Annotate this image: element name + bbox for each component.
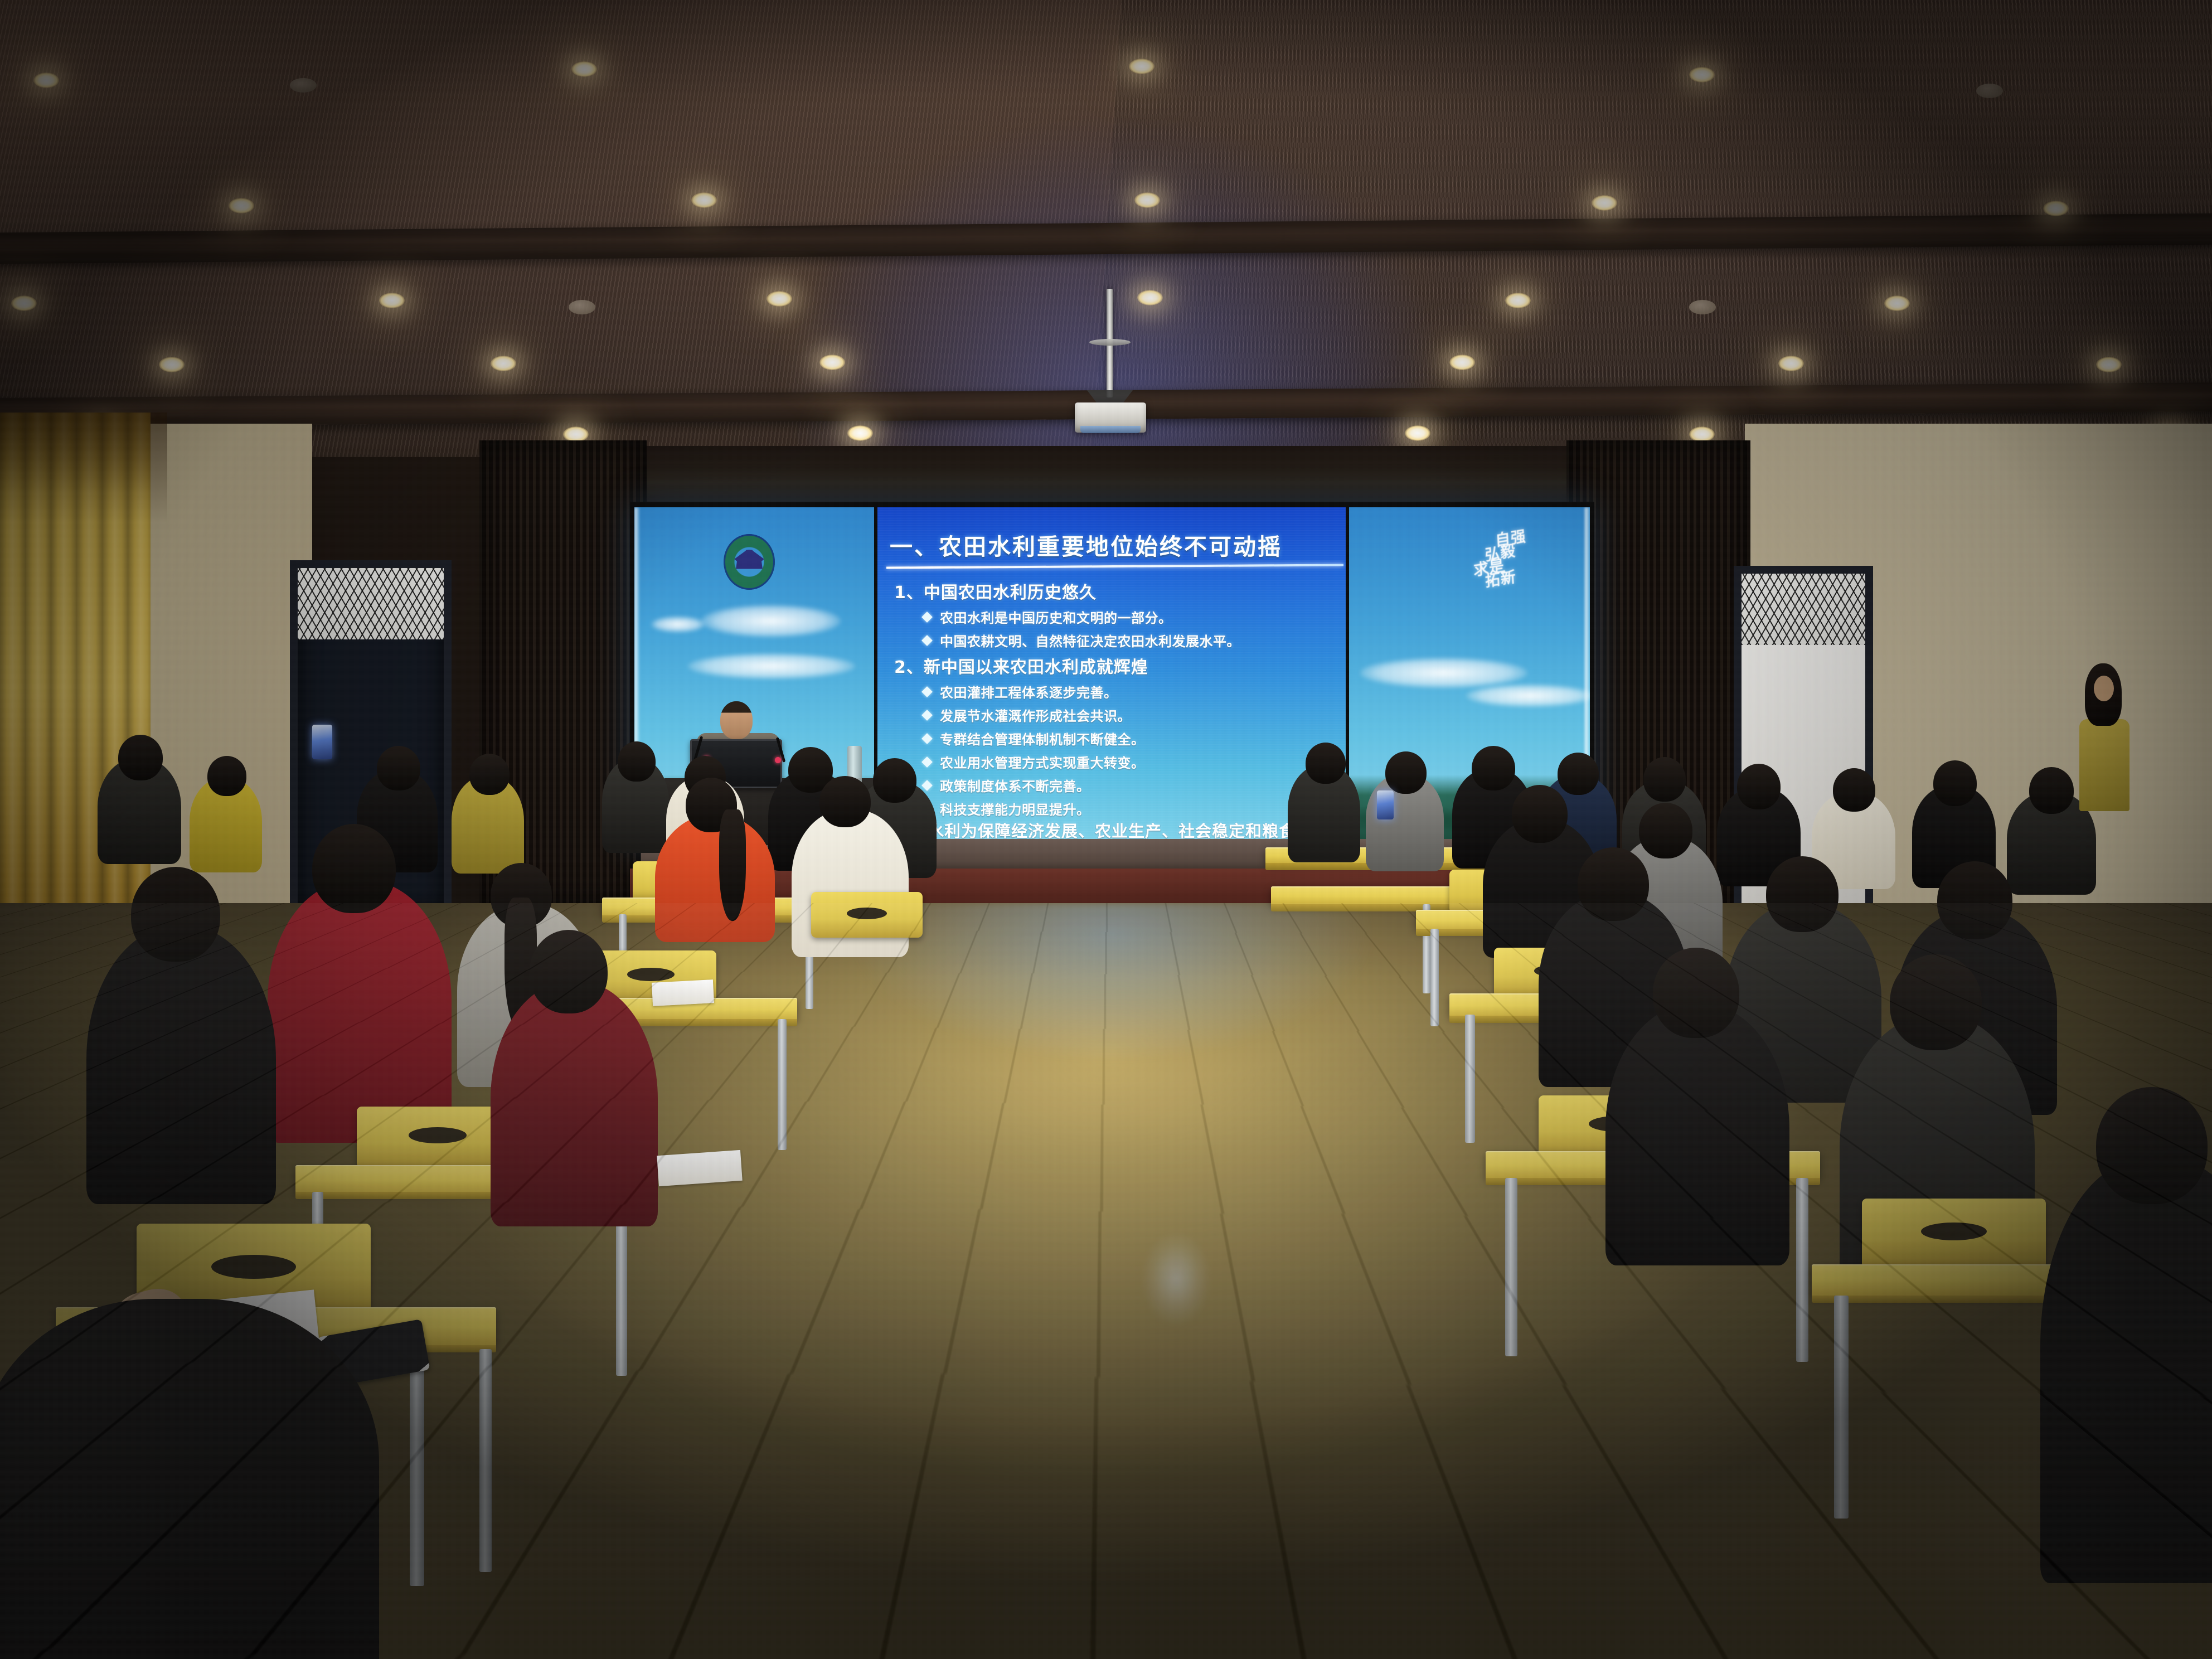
audience-person-plaid xyxy=(491,981,658,1226)
ceiling-downlight xyxy=(767,291,792,307)
audience-head xyxy=(2096,1087,2208,1204)
cloud-shape xyxy=(688,653,855,679)
audience-person xyxy=(1605,1003,1789,1265)
chair-back xyxy=(811,892,923,938)
ceiling-blank-cap xyxy=(1689,300,1716,314)
audience-head xyxy=(131,867,220,962)
ceiling-downlight xyxy=(1689,67,1715,83)
ceiling-blank-cap xyxy=(569,300,595,314)
audience-head xyxy=(1472,746,1515,790)
ceiling-downlight xyxy=(1134,192,1160,208)
slide-section-heading-2: 2、新中国以来农田水利成就辉煌 xyxy=(894,653,1340,678)
slide-bullet-text: 发展节水灌溉作形成社会共识。 xyxy=(940,705,1131,725)
door-grille-icon xyxy=(1742,574,1865,645)
ceiling-downlight xyxy=(1884,295,1910,311)
slide-bullet: 农田水利是中国历史和文明的一部分。 xyxy=(923,607,1340,627)
ceiling-downlight xyxy=(379,293,405,308)
audience-person-red-jacket xyxy=(268,881,452,1143)
ceiling-downlight xyxy=(2096,357,2122,372)
audience-head xyxy=(530,930,608,1013)
slide-bullet: 发展节水灌溉作形成社会共识。 xyxy=(923,705,1340,725)
slide-bullet-text: 农田水利是中国历史和文明的一部分。 xyxy=(940,607,1172,627)
audience-person-orange-hoodie xyxy=(655,814,775,942)
ceiling-downlight xyxy=(2043,201,2069,216)
audience-person-foreground xyxy=(0,1299,379,1659)
standing-attendant xyxy=(2077,663,2131,808)
slide-section-number-2: 2、 xyxy=(894,658,924,677)
audience-head xyxy=(1578,847,1649,921)
standing-attendant-jacket xyxy=(2079,719,2129,811)
screen-panel-center: 一、农田水利重要地位始终不可动摇 1、中国农田水利历史悠久 农田水利是中国历史和… xyxy=(877,507,1346,842)
diamond-bullet-icon xyxy=(921,780,933,791)
calligraphy-motto: 自强 弘毅 求是 拓新 xyxy=(1471,523,1564,638)
audience-head xyxy=(1933,760,1977,806)
desk-leg xyxy=(1834,1296,1849,1519)
audience-head xyxy=(1937,861,2012,939)
projector-mount-collar xyxy=(1089,339,1131,346)
diamond-bullet-icon xyxy=(921,710,933,721)
audience-head xyxy=(2029,767,2074,814)
notebook-page xyxy=(652,979,714,1006)
audience-head xyxy=(469,754,510,795)
cloud-shape xyxy=(1360,658,1527,688)
audience-head xyxy=(1385,751,1427,794)
slide-section-number-1: 1、 xyxy=(894,583,924,603)
audience-head xyxy=(618,741,656,782)
diamond-bullet-icon xyxy=(921,686,933,697)
cloud-shape xyxy=(701,605,841,637)
slide-bullet-text: 中国农耕文明、自然特征决定农田水利发展水平。 xyxy=(940,630,1240,650)
audience-head xyxy=(1737,764,1781,809)
audience-head xyxy=(1833,768,1875,812)
ceiling-downlight xyxy=(1137,290,1163,305)
ceiling-downlight xyxy=(1129,59,1154,74)
cloud-shape xyxy=(651,617,705,632)
audience-head xyxy=(1512,785,1568,843)
cloud-shape xyxy=(1466,685,1590,707)
diamond-bullet-icon xyxy=(921,635,933,646)
ceiling-downlight xyxy=(11,295,37,311)
desk-leg xyxy=(1505,1178,1517,1356)
ceiling-downlight xyxy=(491,356,516,371)
ceiling-downlight xyxy=(1505,293,1531,308)
slide-bullet: 专群结合管理体制机制不断健全。 xyxy=(923,729,1340,748)
desk-leg xyxy=(410,1346,424,1586)
desk-leg xyxy=(1796,1178,1808,1362)
ceiling-downlight xyxy=(571,61,597,77)
slide-title-bar: 一、农田水利重要地位始终不可动摇 xyxy=(890,527,1341,562)
ceiling-downlight xyxy=(1778,356,1804,371)
slide-bullet: 农业用水管理方式实现重大转变。 xyxy=(923,752,1340,772)
desk-leg xyxy=(1465,1015,1475,1143)
ceiling-downlight xyxy=(159,357,185,372)
audience-person-foreground-right xyxy=(2040,1160,2212,1583)
projector-lens xyxy=(1080,426,1141,433)
phone-screen-lit[interactable] xyxy=(312,725,332,759)
ceiling-downlight xyxy=(563,426,589,442)
slide-bullet: 农田灌排工程体系逐步完善。 xyxy=(923,682,1340,701)
desk-leg xyxy=(778,1019,787,1150)
slide-body: 1、中国农田水利历史悠久 农田水利是中国历史和文明的一部分。 中国农耕文明、自然… xyxy=(894,575,1340,842)
audience-head xyxy=(377,746,420,790)
slide-bullet-text: 农田灌排工程体系逐步完善。 xyxy=(940,682,1118,701)
diamond-bullet-icon xyxy=(921,612,933,623)
audience-head xyxy=(1558,753,1599,795)
audience-head xyxy=(1643,757,1686,802)
audience-head xyxy=(1890,954,1982,1050)
mic-indicator-light xyxy=(775,757,781,763)
audience-head xyxy=(118,735,163,780)
ponytail xyxy=(719,809,746,921)
ceiling-downlight xyxy=(819,355,845,370)
ceiling-downlight xyxy=(1405,425,1430,441)
slide-bullet-text: 专群结合管理体制机制不断健全。 xyxy=(940,729,1145,748)
desk-leg xyxy=(479,1349,492,1572)
audience-head xyxy=(1653,948,1739,1038)
notebook-page xyxy=(657,1150,742,1186)
ceiling-downlight xyxy=(229,198,254,214)
audience-head xyxy=(1766,856,1839,932)
slide-bullet: 政策制度体系不断完善。 xyxy=(923,775,1340,795)
slide-bullet: 科技支撑能力明显提升。 xyxy=(923,799,1340,818)
phone-screen-lit[interactable] xyxy=(1377,790,1394,819)
chair-back xyxy=(1862,1199,2046,1268)
audience-head xyxy=(873,758,916,803)
slide-bullet-text: 政策制度体系不断完善。 xyxy=(940,775,1090,795)
audience-head xyxy=(312,824,396,913)
diamond-bullet-icon xyxy=(921,733,933,744)
door-grille-icon xyxy=(298,568,444,639)
standing-attendant-face xyxy=(2094,676,2114,701)
ceiling-downlight xyxy=(1689,426,1715,442)
ceiling-blank-cap xyxy=(1976,84,2003,98)
slide-title-underline xyxy=(886,564,1343,569)
slide-section-text-2: 新中国以来农田水利成就辉煌 xyxy=(924,658,1148,677)
slide-title: 一、农田水利重要地位始终不可动摇 xyxy=(890,528,1282,561)
audience-head xyxy=(207,756,246,796)
lecture-hall-photo: 一、农田水利重要地位始终不可动摇 1、中国农田水利历史悠久 农田水利是中国历史和… xyxy=(0,0,2212,1659)
ceiling-downlight xyxy=(847,425,873,441)
audience-head xyxy=(1306,743,1346,784)
audience-head xyxy=(1639,803,1692,858)
speaker-head xyxy=(720,701,753,739)
slide-bullet-text: 农业用水管理方式实现重大转变。 xyxy=(940,752,1145,772)
audience-head xyxy=(819,776,871,827)
ceiling-blank-cap xyxy=(290,78,317,93)
ceiling xyxy=(0,0,2212,491)
audience-person xyxy=(86,925,276,1204)
diamond-bullet-icon xyxy=(921,756,933,768)
slide-section-text-1: 中国农田水利历史悠久 xyxy=(924,583,1097,603)
ceiling-downlight xyxy=(1592,195,1617,211)
ceiling-downlight xyxy=(691,192,717,208)
slide-bullet-text: 科技支撑能力明显提升。 xyxy=(940,799,1090,818)
university-emblem-icon xyxy=(724,534,775,590)
ceiling-downlight xyxy=(33,72,59,88)
slide-conclusion-line-1: 农田水利为保障经济发展、农业生产、社会稳定和粮食安 xyxy=(894,822,1340,841)
ceiling-downlight xyxy=(1449,355,1475,370)
slide-bullet: 中国农耕文明、自然特征决定农田水利发展水平。 xyxy=(923,630,1340,650)
screen-header-band xyxy=(641,446,1578,507)
desk-leg xyxy=(1430,929,1439,1026)
slide-section-heading-1: 1、中国农田水利历史悠久 xyxy=(894,579,1340,603)
